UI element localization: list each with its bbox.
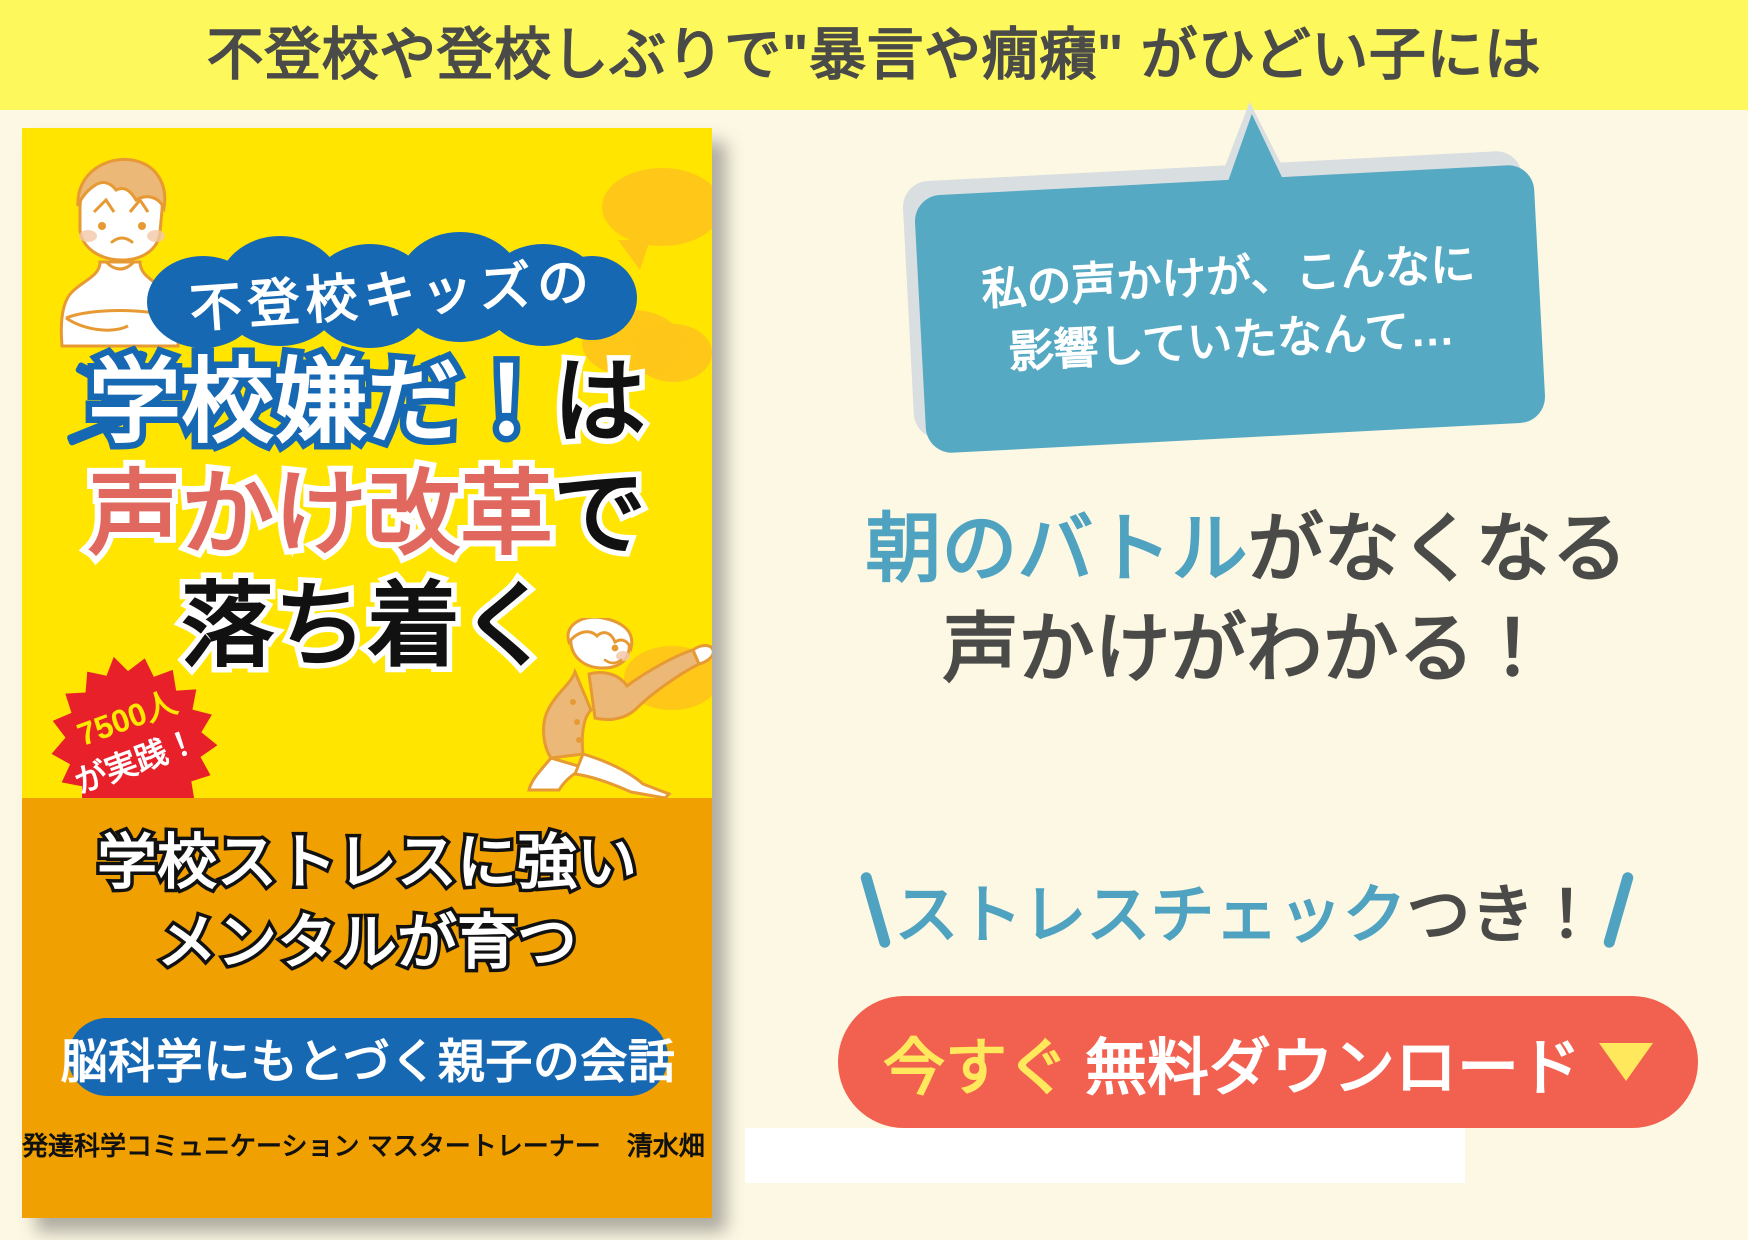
stress-check-text: ストレスチェックつき！ — [895, 864, 1599, 956]
caret-down-icon — [1599, 1043, 1653, 1081]
book-cover-top-section: 不登校キッズの 学校嫌だ！は 声かけ改革で 落ち着く — [22, 128, 712, 798]
cover-cloud-banner-text: 不登校キッズの — [143, 213, 640, 367]
left-slash-icon — [859, 871, 891, 949]
cover-author-credit: 発達科学コミュニケーション マスタートレーナー 清水畑 亜希子 — [22, 1126, 712, 1163]
stress-check-callout: ストレスチェックつき！ — [745, 855, 1748, 965]
running-boy-illustration — [527, 618, 712, 798]
header-banner: 不登校や登校しぶりで"暴言や癇癪" がひどい子には — [0, 0, 1748, 110]
bottom-white-strip — [745, 1128, 1465, 1183]
free-download-cta-button[interactable]: 今すぐ 無料ダウンロード — [838, 996, 1698, 1128]
cover-cloud-banner: 不登校キッズの — [147, 230, 637, 350]
main-headline-rest: がなくなる — [1248, 507, 1628, 592]
main-headline-accent: 朝のバトル — [865, 507, 1247, 592]
main-headline: 朝のバトルがなくなる 声かけがわかる！ — [745, 500, 1748, 701]
main-headline-line-2: 声かけがわかる！ — [745, 600, 1748, 700]
cover-title-line-2-highlight: 声かけ改革 — [88, 462, 553, 566]
cover-title-line-2-suffix: で — [553, 462, 646, 566]
speech-bubble-text: 私の声かけが、こんなに 影響していたなんて… — [914, 164, 1547, 454]
testimonial-speech-bubble: 私の声かけが、こんなに 影響していたなんて… — [920, 180, 1540, 455]
stress-check-accent: ストレスチェック — [895, 879, 1407, 951]
promo-banner-page: 不登校や登校しぶりで"暴言や癇癪" がひどい子には — [0, 0, 1748, 1240]
main-headline-line-1: 朝のバトルがなくなる — [745, 500, 1748, 600]
cover-subtitle-line-1: 学校ストレスに強い — [22, 833, 712, 893]
cover-title-line-1: 学校嫌だ！は — [22, 356, 712, 449]
cover-title-line-2: 声かけ改革で — [22, 468, 712, 561]
cta-main-label: 無料ダウンロード — [1085, 1017, 1581, 1107]
header-headline: 不登校や登校しぶりで"暴言や癇癪" がひどい子には — [207, 27, 1542, 84]
cover-blue-pill-tagline: 脳科学にもとづく親子の会話 — [68, 1018, 668, 1096]
cover-title-line-1-suffix: は — [553, 350, 646, 454]
cover-title-line-3-text: 落ち着く — [181, 574, 553, 678]
cta-now-label: 今すぐ — [883, 1017, 1069, 1107]
stress-check-suffix: つき！ — [1407, 879, 1599, 951]
book-cover: 不登校キッズの 学校嫌だ！は 声かけ改革で 落ち着く — [22, 128, 712, 1218]
right-slash-icon — [1602, 871, 1634, 949]
cover-subtitle-line-2: メンタルが育つ — [22, 913, 712, 973]
